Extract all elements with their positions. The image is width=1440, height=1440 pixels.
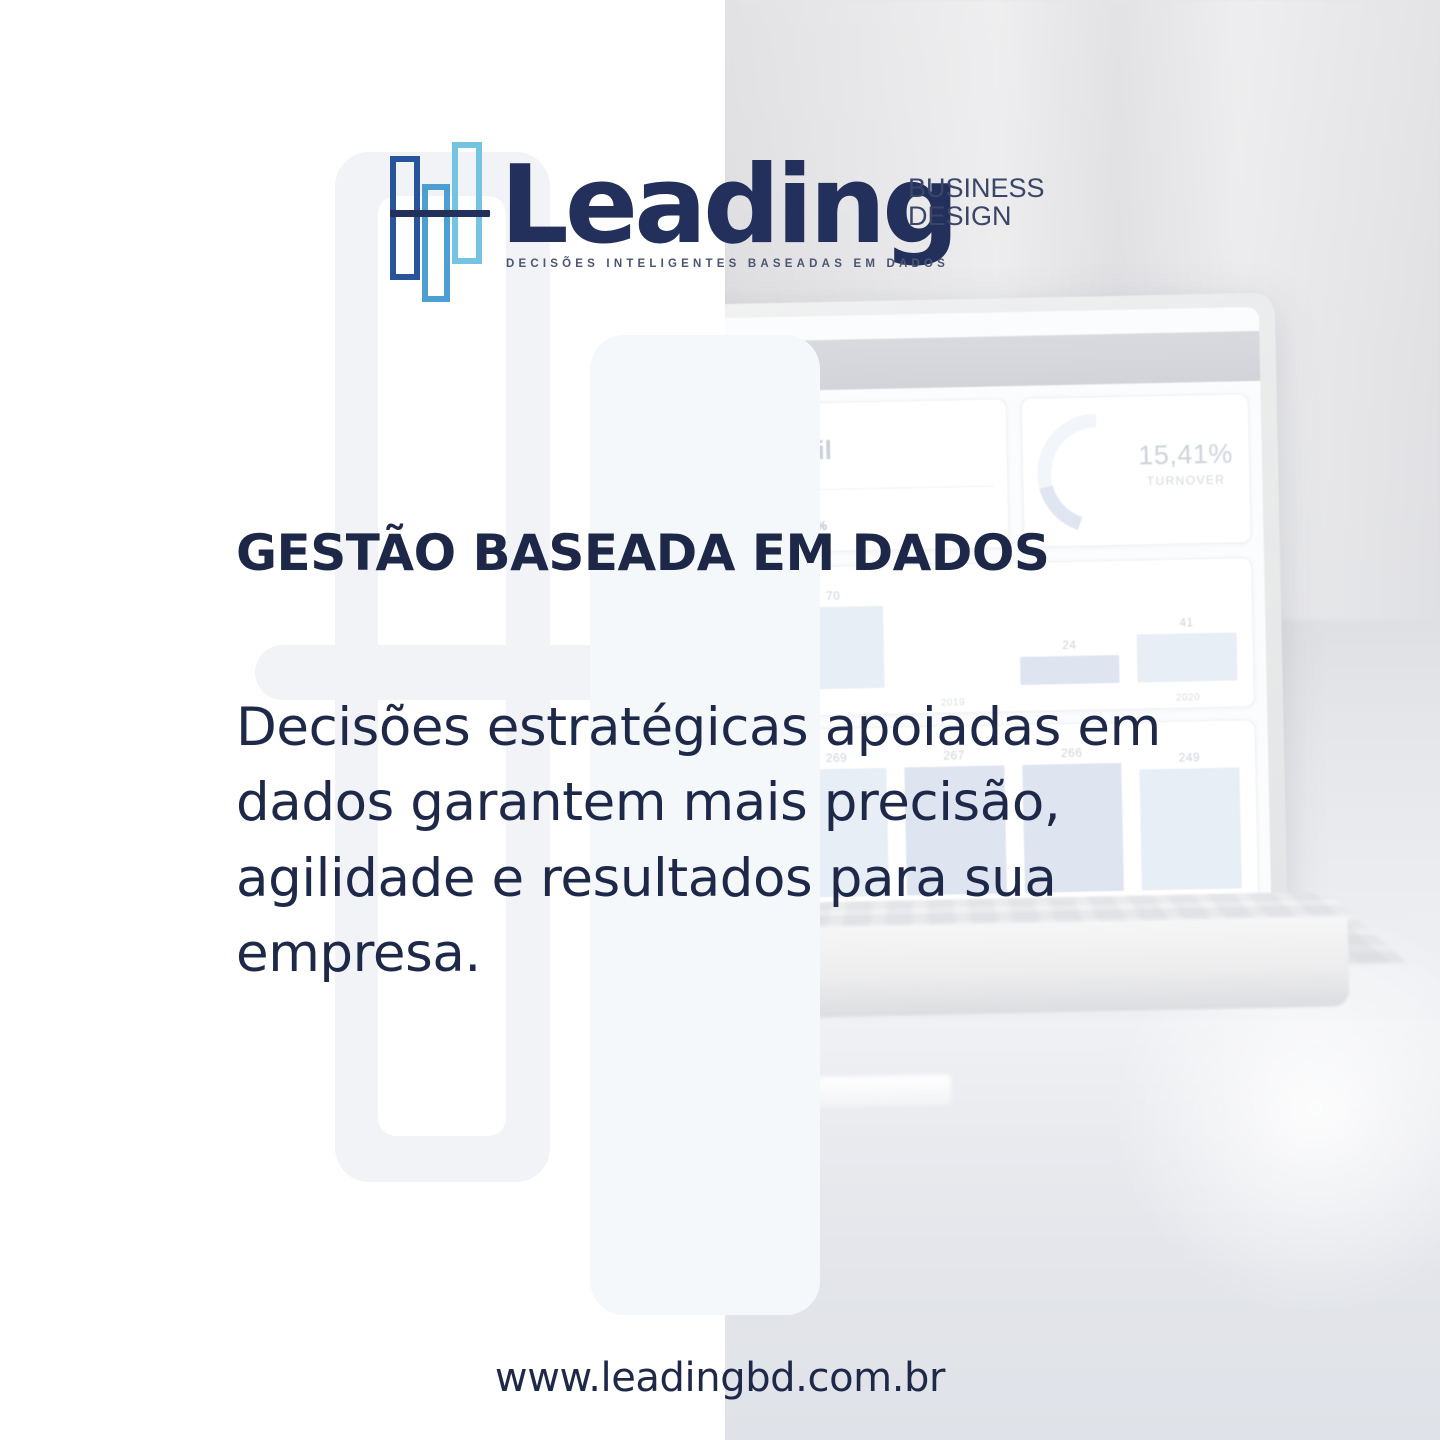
bar-item: 24 — [1018, 583, 1120, 685]
bar-value-label: 24 — [1019, 637, 1119, 653]
body-copy: Decisões estratégicas apoiadas em dados … — [236, 690, 1166, 991]
brand-logo[interactable]: Leading BUSINESS DESIGN DECISÕES INTELIG… — [388, 140, 1088, 300]
bar-item: 412020 — [1136, 580, 1238, 682]
logo-tagline: DECISÕES INTELIGENTES BASEADAS EM DADOS — [506, 258, 949, 270]
bar-value-label — [903, 681, 1003, 683]
footer-website[interactable]: www.leadingbd.com.br — [0, 1355, 1440, 1401]
turnover-readout: 15,41% TURNOVER — [1138, 438, 1234, 488]
logo-submark: BUSINESS DESIGN — [908, 174, 1045, 231]
logo-submark-line1: BUSINESS — [908, 174, 1045, 202]
logo-rule-icon — [390, 210, 490, 217]
turnover-label: TURNOVER — [1139, 472, 1234, 488]
poster-canvas: OVERVIEW $ MASSA SALARIAL R$ 872 Mil — [0, 0, 1440, 1440]
logo-submark-line2: DESIGN — [908, 202, 1045, 230]
page-title: GESTÃO BASEADA EM DADOS — [236, 524, 1176, 582]
logo-wordmark: Leading — [500, 152, 955, 260]
bar — [1020, 655, 1120, 685]
turnover-value: 15,41% — [1138, 438, 1233, 471]
logo-bars-icon — [388, 142, 488, 297]
bar-value-label: 41 — [1137, 614, 1237, 630]
bar-item: 2019 — [901, 585, 1003, 687]
bar — [1137, 632, 1238, 682]
